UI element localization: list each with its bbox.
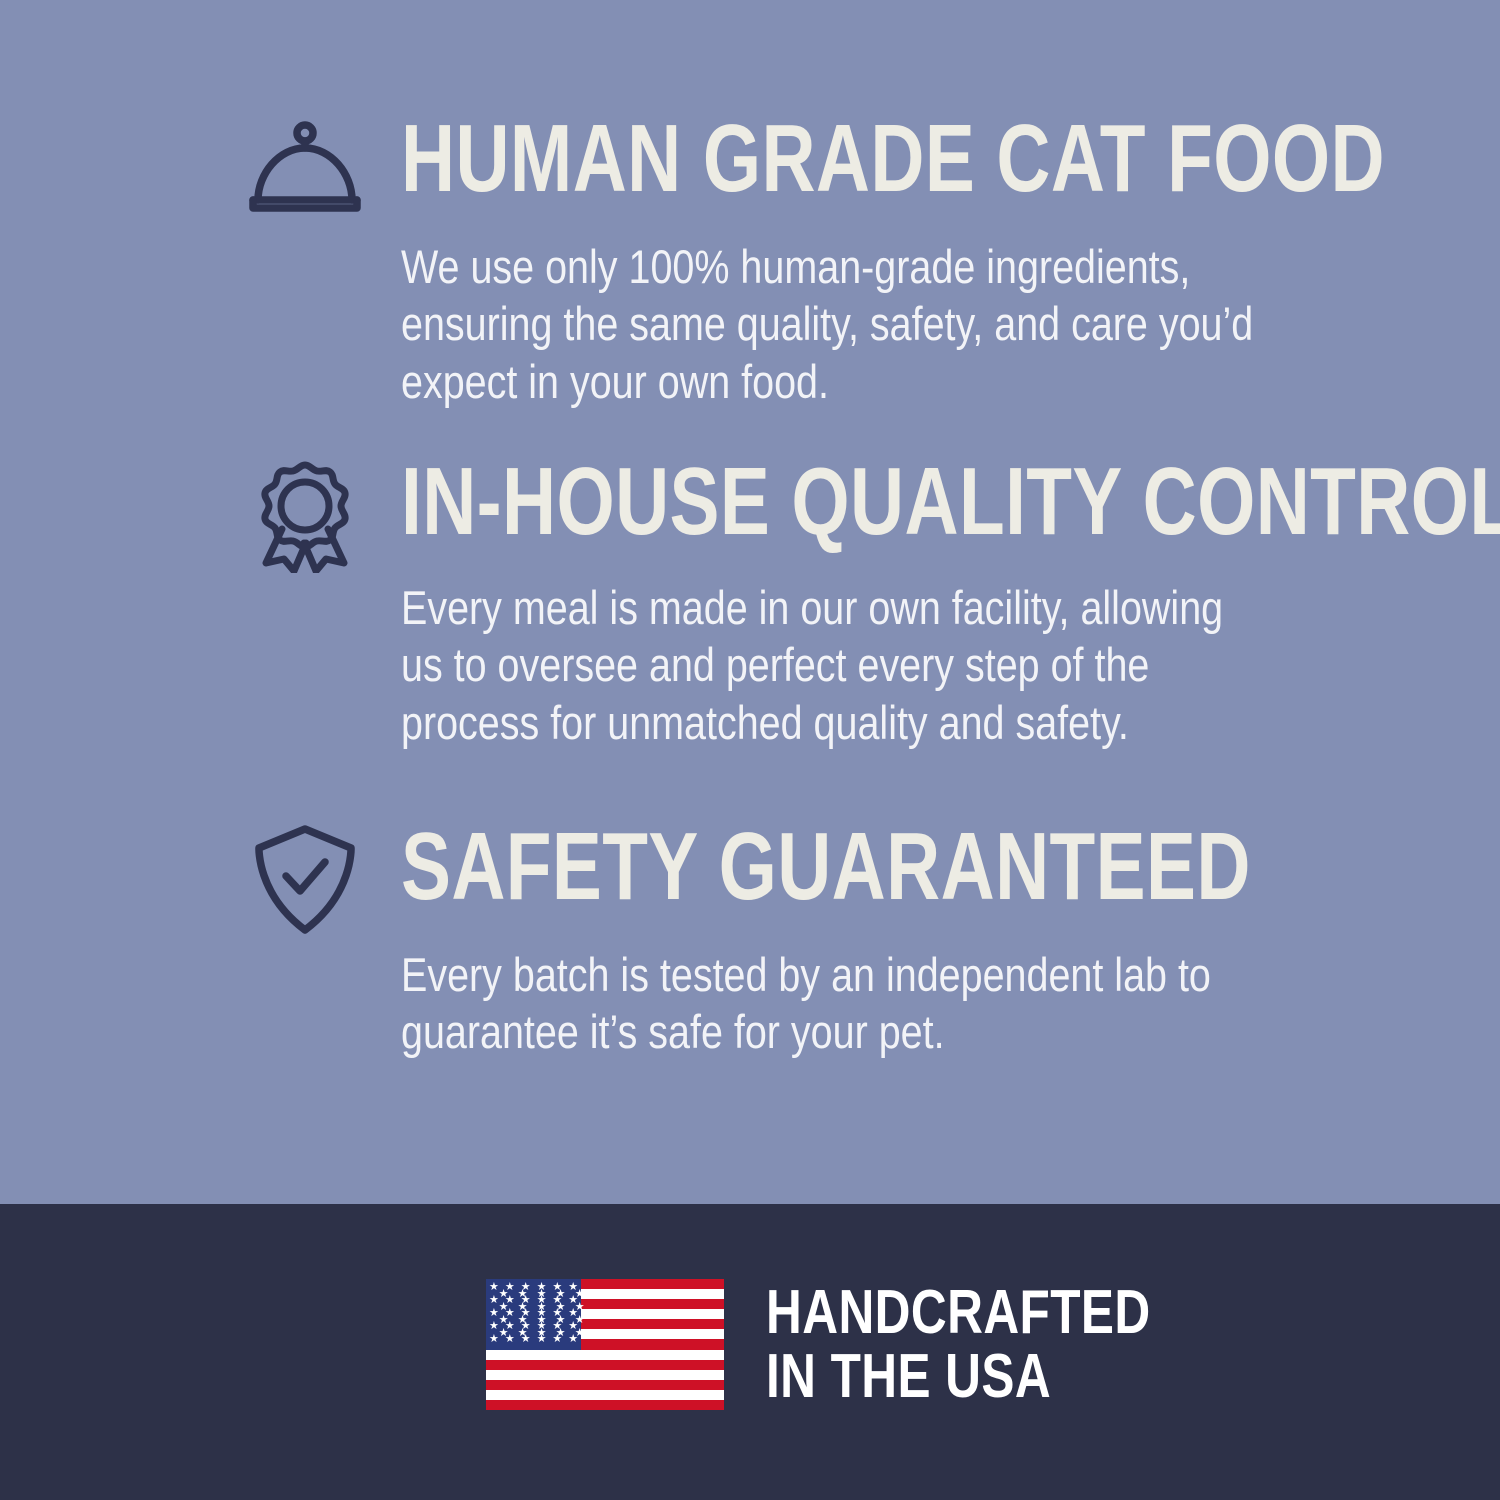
feature-description: Every batch is tested by an independent … xyxy=(401,946,1258,1061)
feature-block-human-grade: HUMAN GRADE CAT FOOD We use only 100% hu… xyxy=(246,112,1466,410)
footer-line-2: IN THE USA xyxy=(766,1345,1151,1408)
feature-body: IN-HOUSE QUALITY CONTROL Every meal is m… xyxy=(401,455,1466,751)
award-ribbon-icon xyxy=(246,455,364,573)
handcrafted-in-usa-text: HANDCRAFTED IN THE USA xyxy=(766,1281,1151,1407)
footer-section: ★★★★★★ ★★★★★ ★★★★★★ ★★★★★ ★★★★★★ xyxy=(0,1204,1500,1500)
feature-title: SAFETY GUARANTEED xyxy=(401,820,1232,914)
shield-check-icon xyxy=(246,820,364,938)
feature-title: IN-HOUSE QUALITY CONTROL xyxy=(401,455,1232,549)
feature-body: HUMAN GRADE CAT FOOD We use only 100% hu… xyxy=(401,112,1466,410)
feature-body: SAFETY GUARANTEED Every batch is tested … xyxy=(401,820,1466,1061)
usa-flag-icon: ★★★★★★ ★★★★★ ★★★★★★ ★★★★★ ★★★★★★ xyxy=(486,1279,724,1410)
feature-block-safety: SAFETY GUARANTEED Every batch is tested … xyxy=(246,820,1466,1061)
feature-description: Every meal is made in our own facility, … xyxy=(401,579,1258,751)
feature-description: We use only 100% human-grade ingredients… xyxy=(401,238,1258,410)
footer-inner: ★★★★★★ ★★★★★ ★★★★★★ ★★★★★ ★★★★★★ xyxy=(486,1279,1247,1410)
features-section: HUMAN GRADE CAT FOOD We use only 100% hu… xyxy=(0,0,1500,1204)
feature-title: HUMAN GRADE CAT FOOD xyxy=(401,112,1232,206)
footer-line-1: HANDCRAFTED xyxy=(766,1281,1151,1344)
infographic-page: HUMAN GRADE CAT FOOD We use only 100% hu… xyxy=(0,0,1500,1500)
flag-canton: ★★★★★★ ★★★★★ ★★★★★★ ★★★★★ ★★★★★★ xyxy=(486,1279,581,1350)
cloche-icon xyxy=(246,112,364,230)
feature-block-quality-control: IN-HOUSE QUALITY CONTROL Every meal is m… xyxy=(246,455,1466,751)
